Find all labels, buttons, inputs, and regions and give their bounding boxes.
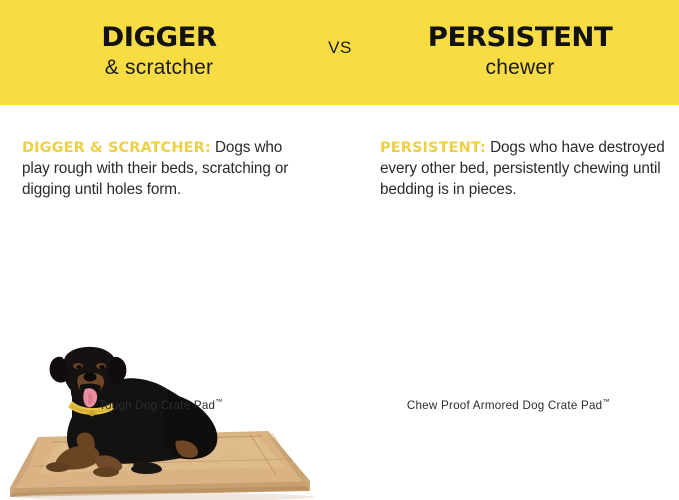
product-caption-left: Tough Dog Crate Pad™: [0, 397, 331, 412]
comparison-column-persistent: PERSISTENT: Dogs who have destroyed ever…: [340, 105, 679, 426]
comparison-column-digger: DIGGER & SCRATCHER: Dogs who play rough …: [0, 105, 340, 426]
header-banner: DIGGER & scratcher VS PERSISTENT chewer: [0, 0, 679, 105]
product-caption-right-text: Chew Proof Armored Dog Crate Pad: [407, 399, 603, 412]
product-caption-left-text: Tough Dog Crate Pad: [99, 399, 215, 412]
header-right-group: PERSISTENT chewer: [361, 0, 679, 105]
description-tag-persistent: PERSISTENT:: [380, 140, 486, 156]
description-tag-digger: DIGGER & SCRATCHER:: [22, 140, 211, 156]
product-caption-right: Chew Proof Armored Dog Crate Pad™: [339, 397, 678, 412]
description-digger: DIGGER & SCRATCHER: Dogs who play rough …: [22, 138, 314, 201]
header-left-subtitle: & scratcher: [0, 56, 318, 79]
header-right-title: PERSISTENT: [358, 24, 679, 51]
versus-label: VS: [320, 38, 360, 58]
description-persistent: PERSISTENT: Dogs who have destroyed ever…: [380, 138, 679, 201]
header-left-group: DIGGER & scratcher: [0, 0, 318, 105]
trademark-icon: ™: [602, 397, 610, 406]
trademark-icon: ™: [215, 397, 223, 406]
product-photo-tough-dog-crate-pad: [0, 345, 340, 500]
header-right-subtitle: chewer: [361, 56, 679, 79]
header-left-title: DIGGER: [0, 24, 321, 51]
